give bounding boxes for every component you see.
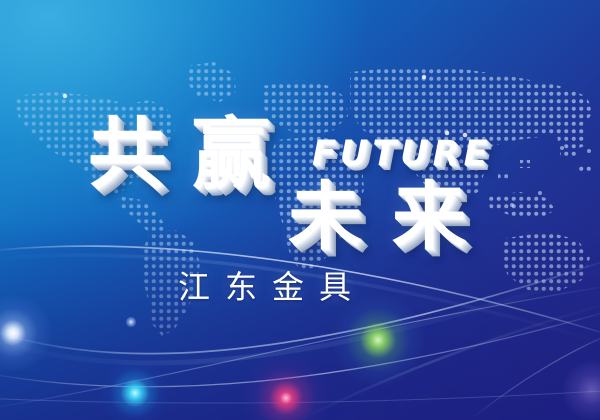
glow-particle-red (243, 355, 329, 420)
headline-cjk-weilai: 未来 (288, 174, 496, 260)
headline-latin-future: FUTURE (312, 137, 491, 172)
company-name-block: 江东金具 (178, 271, 366, 303)
glow-particle-violet (562, 360, 600, 420)
banner-content: 共赢 FUTURE 未来 江东金具 (0, 0, 600, 420)
headline-line-2: 未来 (288, 180, 496, 254)
promotional-banner: 共赢 FUTURE 未来 江东金具 (0, 0, 600, 420)
glow-particle-green (332, 294, 424, 386)
headline-cjk-gongying: 共赢 (88, 116, 296, 194)
company-name: 江东金具 (178, 268, 366, 306)
glow-particle-small-blue (126, 317, 136, 327)
glow-particle-cyan (101, 359, 169, 420)
glow-particle-white (0, 294, 52, 372)
